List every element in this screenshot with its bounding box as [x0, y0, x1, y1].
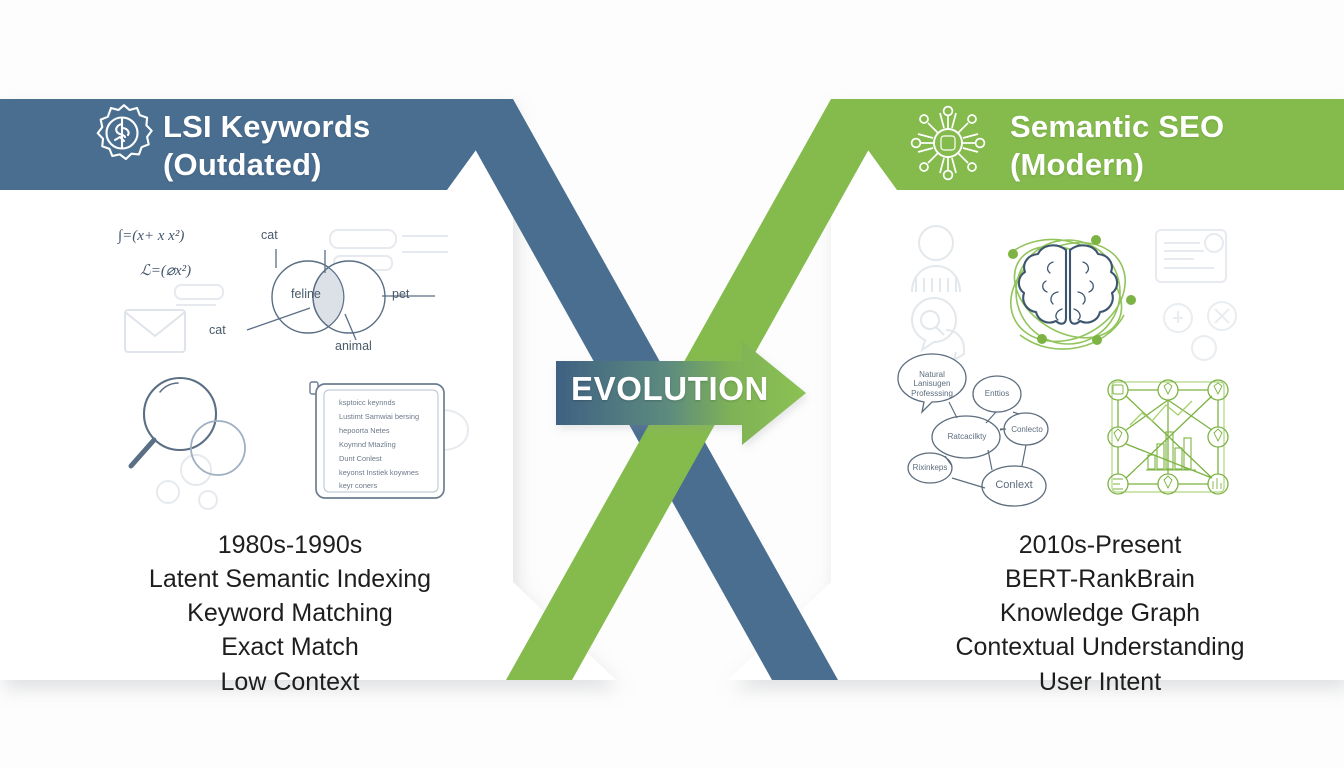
venn-label-right: pet: [392, 287, 409, 301]
right-banner-title-line1: Semantic SEO: [1010, 108, 1224, 146]
graph-label-relationships: Ratcacilkty: [938, 432, 996, 441]
document-line-2: Lustimt Samwiai bersing: [339, 412, 419, 421]
evolution-arrow-label: EVOLUTION: [560, 370, 780, 408]
left-list-item-5: Low Context: [80, 665, 500, 699]
formula-2: ℒ=(⌀x²): [140, 261, 191, 280]
venn-label-center: feline: [291, 287, 321, 301]
left-panel-feature-list: 1980s-1990s Latent Semantic Indexing Key…: [80, 528, 500, 699]
left-banner-title-line1: LSI Keywords: [163, 108, 370, 146]
right-banner-title: Semantic SEO (Modern): [1010, 108, 1224, 184]
right-list-item-3: Knowledge Graph: [890, 596, 1310, 630]
document-line-7: keyr coners: [339, 481, 377, 490]
right-list-item-1: 2010s-Present: [890, 528, 1310, 562]
graph-label-context-small: Conlecto: [1008, 425, 1046, 434]
formula-1: ∫=(x+ x x²): [118, 228, 184, 245]
graph-label-nlp: Natural Lanisugen Professsing: [902, 370, 962, 398]
document-line-3: hepoorta Netes: [339, 426, 390, 435]
left-banner-title: LSI Keywords (Outdated): [163, 108, 370, 184]
graph-label-context: Conlext: [992, 479, 1036, 492]
right-panel-feature-list: 2010s-Present BERT-RankBrain Knowledge G…: [890, 528, 1310, 699]
left-list-item-1: 1980s-1990s: [80, 528, 500, 562]
left-banner-title-line2: (Outdated): [163, 146, 370, 184]
right-list-item-4: Contextual Understanding: [890, 630, 1310, 664]
right-banner-title-line2: (Modern): [1010, 146, 1224, 184]
venn-label-bottom-right: animal: [335, 339, 372, 353]
document-line-6: keyonst Instiek koywnes: [339, 468, 419, 477]
infographic-canvas: LSI Keywords (Outdated) Semantic SEO (Mo…: [0, 0, 1344, 768]
venn-label-bottom-left: cat: [209, 323, 226, 337]
right-list-item-5: User Intent: [890, 665, 1310, 699]
graph-label-rankings: Rixinkeps: [911, 463, 949, 472]
document-line-5: Dunt Conlest: [339, 454, 382, 463]
document-line-1: ksptoicc keynnds: [339, 398, 395, 407]
venn-label-top: cat: [261, 228, 278, 242]
document-line-4: Koymnd Mtazling: [339, 440, 396, 449]
left-list-item-4: Exact Match: [80, 630, 500, 664]
left-list-item-2: Latent Semantic Indexing: [80, 562, 500, 596]
graph-label-entities: Enttios: [977, 389, 1017, 398]
right-list-item-2: BERT-RankBrain: [890, 562, 1310, 596]
left-list-item-3: Keyword Matching: [80, 596, 500, 630]
